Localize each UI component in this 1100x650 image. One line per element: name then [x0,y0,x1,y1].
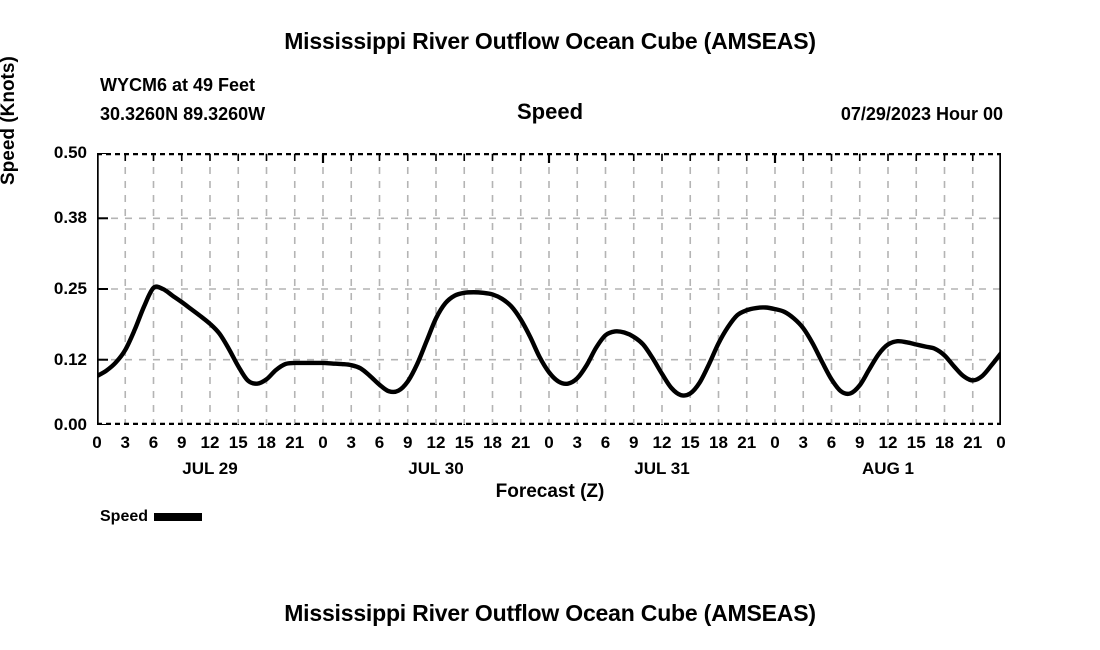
x-tick-label: 3 [562,433,592,453]
x-tick-label: 0 [308,433,338,453]
x-day-label: JUL 30 [366,459,506,479]
x-tick-label: 3 [788,433,818,453]
y-axis-title: Speed (Knots) [0,56,20,185]
x-tick-label: 6 [139,433,169,453]
x-tick-label: 21 [732,433,762,453]
x-tick-label: 0 [986,433,1016,453]
y-tick-label: 0.00 [25,415,87,435]
x-tick-label: 9 [393,433,423,453]
x-axis-title: Forecast (Z) [0,481,1100,503]
x-tick-label: 6 [591,433,621,453]
x-tick-label: 6 [817,433,847,453]
x-tick-label: 9 [845,433,875,453]
chart-svg [97,153,1001,425]
y-tick-label: 0.38 [25,208,87,228]
x-tick-label: 15 [223,433,253,453]
legend-label-speed: Speed [100,508,148,526]
x-tick-label: 18 [478,433,508,453]
x-tick-label: 12 [873,433,903,453]
run-date-label: 07/29/2023 Hour 00 [841,104,1003,125]
x-tick-label: 18 [930,433,960,453]
x-tick-label: 3 [110,433,140,453]
x-tick-label: 9 [167,433,197,453]
station-label: WYCM6 at 49 Feet [100,75,255,96]
x-tick-label: 3 [336,433,366,453]
x-tick-label: 21 [506,433,536,453]
plot-area [97,153,1001,425]
y-tick-label: 0.25 [25,279,87,299]
x-tick-label: 0 [760,433,790,453]
x-tick-label: 15 [901,433,931,453]
x-tick-label: 21 [958,433,988,453]
x-tick-label: 12 [195,433,225,453]
x-tick-label: 12 [421,433,451,453]
legend-swatch-speed [154,513,202,521]
x-tick-label: 9 [619,433,649,453]
legend: Speed [100,508,202,526]
x-day-label: AUG 1 [818,459,958,479]
x-tick-label: 12 [647,433,677,453]
x-tick-label: 18 [704,433,734,453]
x-tick-label: 6 [365,433,395,453]
x-tick-label: 0 [534,433,564,453]
x-tick-label: 0 [82,433,112,453]
x-tick-label: 15 [449,433,479,453]
x-tick-label: 15 [675,433,705,453]
x-tick-label: 18 [252,433,282,453]
chart-page: Mississippi River Outflow Ocean Cube (AM… [0,0,1100,650]
x-day-label: JUL 31 [592,459,732,479]
y-tick-label: 0.12 [25,350,87,370]
page-title-top: Mississippi River Outflow Ocean Cube (AM… [0,28,1100,55]
page-title-bottom: Mississippi River Outflow Ocean Cube (AM… [0,600,1100,627]
x-day-label: JUL 29 [140,459,280,479]
y-tick-label: 0.50 [25,143,87,163]
x-tick-label: 21 [280,433,310,453]
